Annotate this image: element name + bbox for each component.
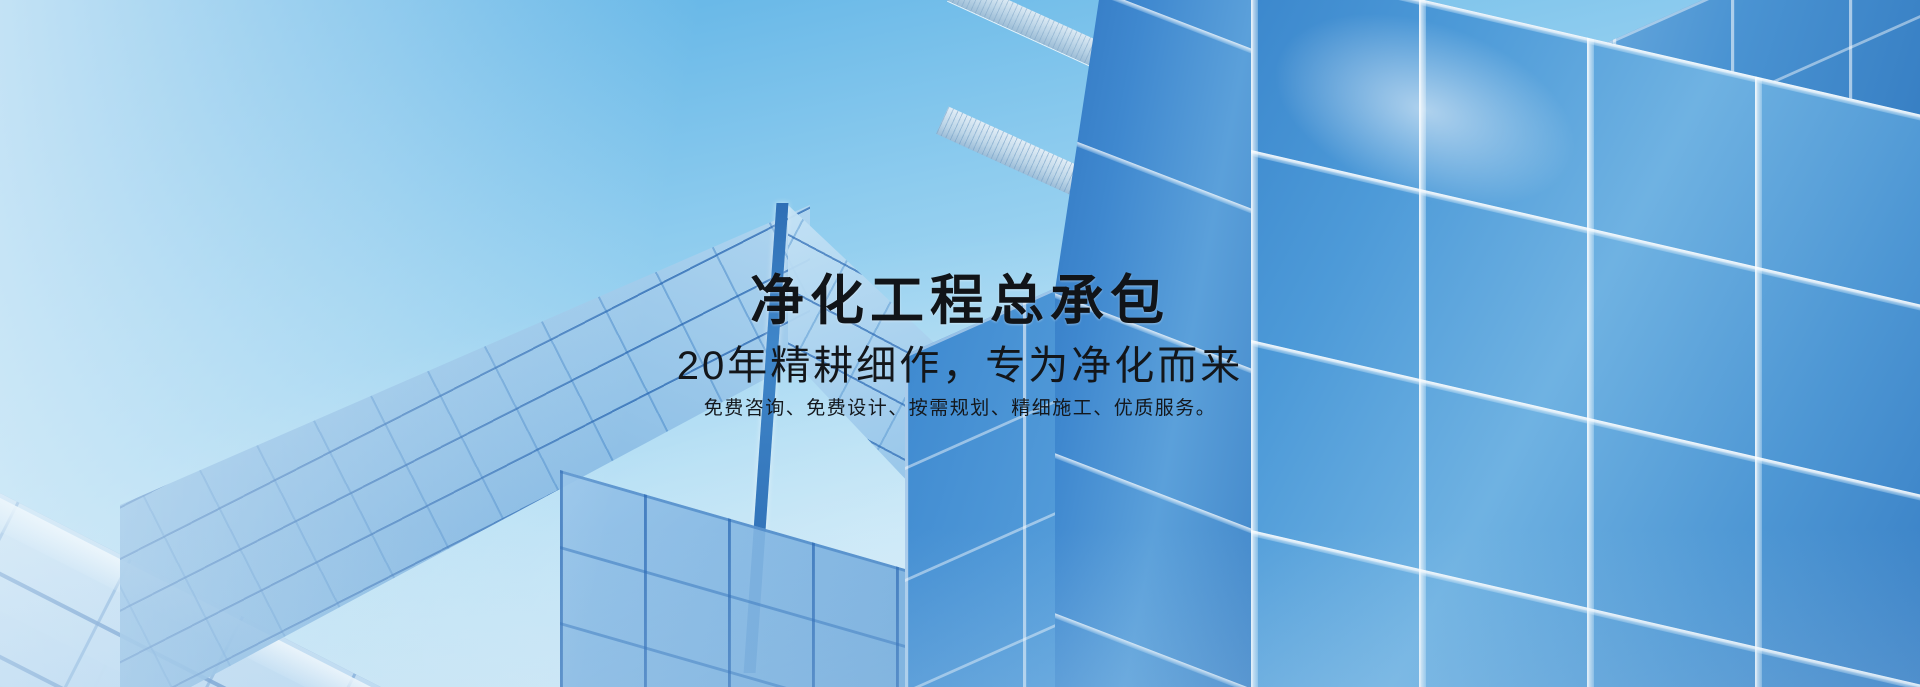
hero-copy-block: 净化工程总承包 20年精耕细作，专为净化而来 免费咨询、免费设计、按需规划、精细… [0, 272, 1920, 421]
hero-banner: 净化工程总承包 20年精耕细作，专为净化而来 免费咨询、免费设计、按需规划、精细… [0, 0, 1920, 687]
hero-tagline: 免费咨询、免费设计、按需规划、精细施工、优质服务。 [0, 398, 1920, 421]
hero-subline: 20年精耕细作，专为净化而来 [0, 344, 1920, 388]
hero-headline: 净化工程总承包 [0, 272, 1920, 330]
